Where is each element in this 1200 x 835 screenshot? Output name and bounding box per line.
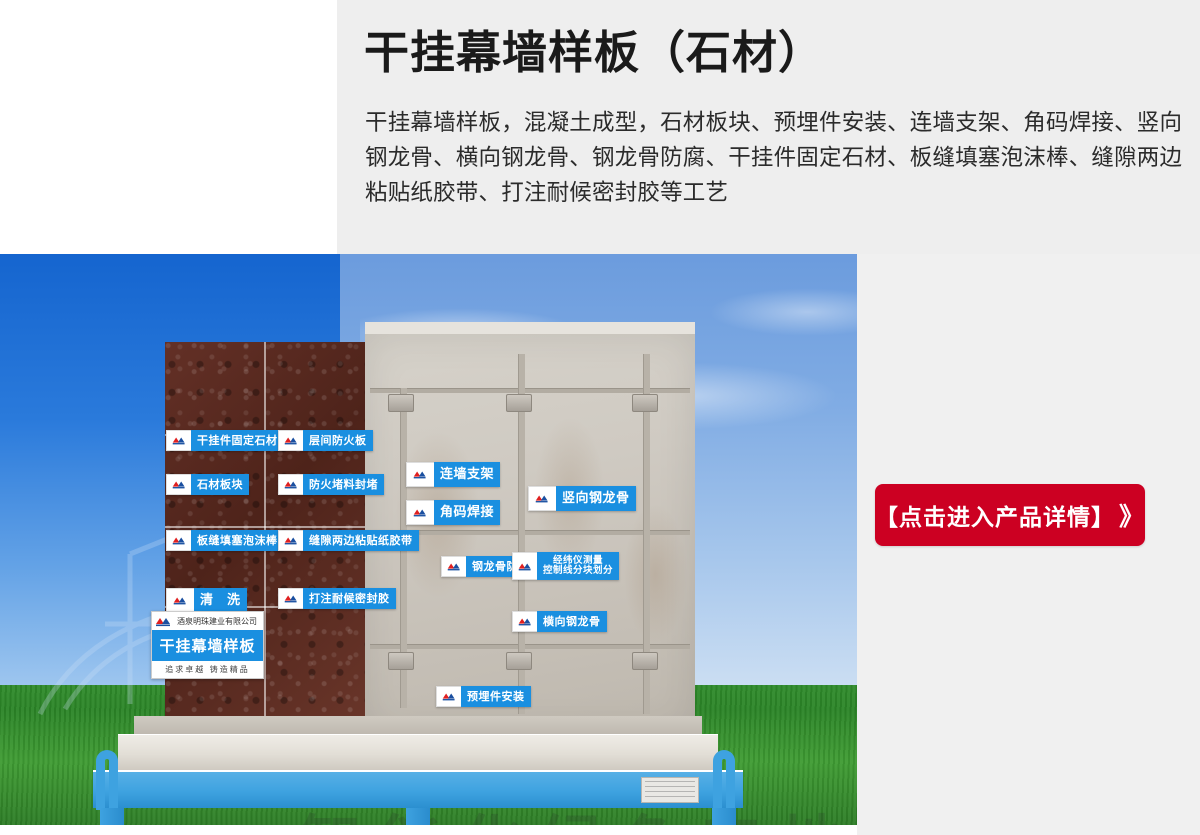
tag-label-text: 石材板块 bbox=[191, 474, 249, 495]
page-title: 干挂幕墙样板（石材） bbox=[364, 25, 824, 81]
tag-label-floor-fire-board[interactable]: 层间防火板 bbox=[278, 430, 373, 451]
tag-label-text: 竖向钢龙骨 bbox=[556, 486, 636, 511]
tag-logo-icon bbox=[166, 474, 191, 495]
tag-logo-icon bbox=[278, 588, 303, 609]
tag-label-fire-seal[interactable]: 防火堵料封堵 bbox=[278, 474, 384, 495]
tag-label-stone-block[interactable]: 石材板块 bbox=[166, 474, 249, 495]
tag-logo-icon bbox=[406, 500, 434, 525]
tag-label-foam-rod[interactable]: 板缝填塞泡沫棒 bbox=[166, 530, 284, 551]
tag-label-text: 经纬仪测量控制线分块划分 bbox=[537, 552, 619, 580]
sample-board-assembly: 干挂件固定石材层间防火板石材板块防火堵料封堵板缝填塞泡沫棒缝隙两边粘贴纸胶带清 … bbox=[88, 334, 788, 804]
pallet-handle bbox=[713, 750, 735, 810]
product-photo[interactable]: 智能化绿色工地 bbox=[0, 254, 857, 825]
enter-product-detail-button[interactable]: 【点击进入产品详情】 》 bbox=[875, 484, 1145, 546]
pallet-leg bbox=[712, 808, 736, 825]
tag-logo-icon bbox=[512, 552, 537, 580]
tag-label-horizontal-keel[interactable]: 横向钢龙骨 bbox=[512, 611, 607, 632]
tag-logo-icon bbox=[166, 530, 191, 551]
tag-label-text: 角码焊接 bbox=[434, 500, 500, 525]
anchor-plate bbox=[388, 652, 414, 670]
anchor-plate bbox=[506, 394, 532, 412]
company-logo-icon bbox=[154, 615, 174, 628]
tag-logo-icon bbox=[512, 611, 537, 632]
tag-logo-icon bbox=[528, 486, 556, 511]
company-sign-board[interactable]: 酒泉明珠建业有限公司 干挂幕墙样板 追求卓越 铸造精品 bbox=[151, 611, 264, 679]
tag-logo-icon bbox=[278, 530, 303, 551]
tag-label-text: 缝隙两边粘贴纸胶带 bbox=[303, 530, 419, 551]
spec-plate bbox=[641, 777, 699, 803]
stone-joint bbox=[165, 526, 365, 528]
concrete-base-upper bbox=[134, 716, 702, 736]
tag-logo-icon bbox=[278, 430, 303, 451]
anchor-plate bbox=[388, 394, 414, 412]
tag-logo-icon bbox=[406, 462, 434, 487]
steel-rail bbox=[370, 388, 690, 393]
chevron-right-icon: 》 bbox=[1119, 497, 1145, 533]
steel-rail bbox=[370, 644, 690, 649]
pallet-handle bbox=[96, 750, 118, 810]
cta-label: 【点击进入产品详情】 bbox=[875, 498, 1111, 532]
tag-logo-icon bbox=[166, 588, 194, 613]
tag-label-text: 层间防火板 bbox=[303, 430, 373, 451]
tag-label-wall-bracket[interactable]: 连墙支架 bbox=[406, 462, 500, 487]
tag-logo-icon bbox=[278, 474, 303, 495]
tag-label-stone-fix[interactable]: 干挂件固定石材 bbox=[166, 430, 284, 451]
anchor-plate bbox=[506, 652, 532, 670]
tag-logo-icon bbox=[441, 556, 466, 577]
board-slogan: 追求卓越 铸造精品 bbox=[152, 661, 263, 678]
tag-label-embedded-parts[interactable]: 预埋件安装 bbox=[436, 686, 531, 707]
tag-label-theodolite-survey[interactable]: 经纬仪测量控制线分块划分 bbox=[512, 552, 619, 580]
board-title: 干挂幕墙样板 bbox=[152, 630, 263, 661]
tag-label-text: 横向钢龙骨 bbox=[537, 611, 607, 632]
company-sign-row: 酒泉明珠建业有限公司 bbox=[152, 612, 263, 630]
tag-label-cleaning[interactable]: 清 洗 bbox=[166, 588, 247, 613]
tag-logo-icon bbox=[436, 686, 461, 707]
tag-label-text: 预埋件安装 bbox=[461, 686, 531, 707]
anchor-plate bbox=[632, 652, 658, 670]
tag-label-text: 连墙支架 bbox=[434, 462, 500, 487]
anchor-plate bbox=[632, 394, 658, 412]
tag-label-text: 清 洗 bbox=[194, 588, 247, 613]
tag-label-paper-tape[interactable]: 缝隙两边粘贴纸胶带 bbox=[278, 530, 419, 551]
tag-label-weather-sealant[interactable]: 打注耐候密封胶 bbox=[278, 588, 396, 609]
pallet-leg bbox=[100, 808, 124, 825]
page-root: 干挂幕墙样板（石材） 干挂幕墙样板，混凝土成型，石材板块、预埋件安装、连墙支架、… bbox=[0, 0, 1200, 835]
tag-label-angle-weld[interactable]: 角码焊接 bbox=[406, 500, 500, 525]
tag-label-text: 防火堵料封堵 bbox=[303, 474, 384, 495]
tag-label-text: 板缝填塞泡沫棒 bbox=[191, 530, 284, 551]
product-info-panel: 干挂幕墙样板（石材） 干挂幕墙样板，混凝土成型，石材板块、预埋件安装、连墙支架、… bbox=[337, 0, 1200, 254]
tag-logo-icon bbox=[166, 430, 191, 451]
company-name: 酒泉明珠建业有限公司 bbox=[177, 616, 257, 627]
tag-label-line2: 控制线分块划分 bbox=[543, 566, 613, 576]
tag-label-text: 打注耐候密封胶 bbox=[303, 588, 396, 609]
concrete-base-slab bbox=[118, 734, 718, 770]
tag-label-vertical-keel[interactable]: 竖向钢龙骨 bbox=[528, 486, 636, 511]
product-description: 干挂幕墙样板，混凝土成型，石材板块、预埋件安装、连墙支架、角码焊接、竖向钢龙骨、… bbox=[365, 106, 1185, 211]
pallet-leg bbox=[406, 808, 430, 825]
tag-label-text: 干挂件固定石材 bbox=[191, 430, 284, 451]
